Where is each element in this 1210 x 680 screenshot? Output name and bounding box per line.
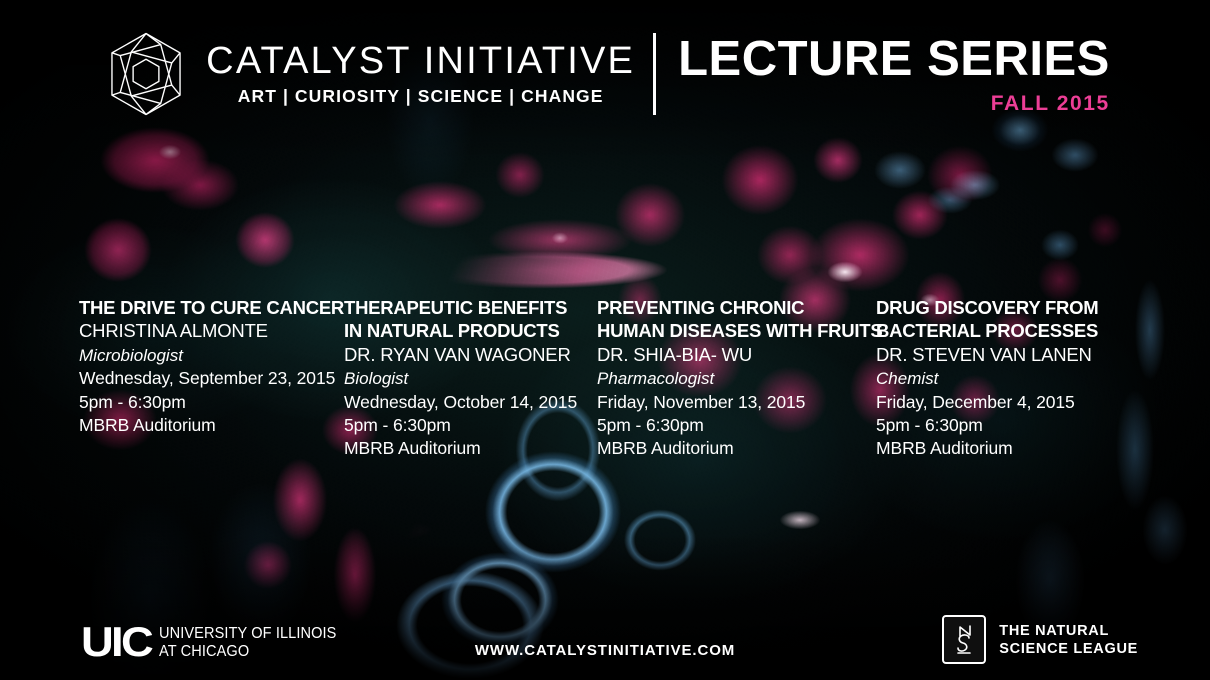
catalyst-polyhedron-logo-icon xyxy=(100,28,192,120)
lecture-role: Biologist xyxy=(344,367,597,390)
ns-monogram-icon xyxy=(942,615,986,664)
lecture-time: 5pm - 6:30pm xyxy=(597,414,876,437)
lecture-card-4: DRUG DISCOVERY FROM BACTERIAL PROCESSES … xyxy=(876,296,1139,461)
lecture-venue: MBRB Auditorium xyxy=(344,437,597,460)
lecture-title-line-1: DRUG DISCOVERY FROM xyxy=(876,296,1139,319)
brand-title: CATALYST INITIATIVE xyxy=(206,42,635,80)
lecture-card-3: PREVENTING CHRONIC HUMAN DISEASES WITH F… xyxy=(597,296,876,461)
lecture-venue: MBRB Auditorium xyxy=(876,437,1139,460)
series-subtitle: FALL 2015 xyxy=(678,93,1110,114)
lecture-venue: MBRB Auditorium xyxy=(597,437,876,460)
catalyst-initiative-brand: CATALYST INITIATIVE ART | CURIOSITY | SC… xyxy=(100,28,635,120)
nsl-line-1: THE NATURAL xyxy=(999,622,1138,640)
lecture-speaker: DR. SHIA-BIA- WU xyxy=(597,343,876,366)
lecture-date: Wednesday, October 14, 2015 xyxy=(344,391,597,414)
nsl-line-2: SCIENCE LEAGUE xyxy=(999,640,1138,658)
brand-tagline: ART | CURIOSITY | SCIENCE | CHANGE xyxy=(206,88,635,106)
poster-canvas: CATALYST INITIATIVE ART | CURIOSITY | SC… xyxy=(0,0,1210,680)
lecture-title-line-1: THERAPEUTIC BENEFITS xyxy=(344,296,597,319)
poster-footer: UIC UNIVERSITY OF ILLINOIS AT CHICAGO WW… xyxy=(0,590,1210,680)
lecture-venue: MBRB Auditorium xyxy=(79,414,344,437)
lecture-role: Chemist xyxy=(876,367,1139,390)
lecture-date: Friday, November 13, 2015 xyxy=(597,391,876,414)
lecture-date: Wednesday, September 23, 2015 xyxy=(79,367,344,390)
lecture-time: 5pm - 6:30pm xyxy=(79,391,344,414)
lecture-role: Pharmacologist xyxy=(597,367,876,390)
uic-line-1: UNIVERSITY OF ILLINOIS xyxy=(159,625,336,643)
lecture-title-line-2: HUMAN DISEASES WITH FRUITS xyxy=(597,319,876,342)
lecture-title-line-1: PREVENTING CHRONIC xyxy=(597,296,876,319)
lecture-date: Friday, December 4, 2015 xyxy=(876,391,1139,414)
header-divider xyxy=(653,33,656,115)
lecture-speaker: CHRISTINA ALMONTE xyxy=(79,319,344,342)
lecture-card-1: THE DRIVE TO CURE CANCER CHRISTINA ALMON… xyxy=(79,296,344,461)
natural-science-league-logo: THE NATURAL SCIENCE LEAGUE xyxy=(942,615,1138,664)
brand-wordmark: CATALYST INITIATIVE ART | CURIOSITY | SC… xyxy=(206,42,635,106)
lecture-time: 5pm - 6:30pm xyxy=(344,414,597,437)
lecture-role: Microbiologist xyxy=(79,344,344,367)
lecture-list: THE DRIVE TO CURE CANCER CHRISTINA ALMON… xyxy=(79,296,1139,461)
nsl-wordmark: THE NATURAL SCIENCE LEAGUE xyxy=(999,622,1138,658)
poster-header: CATALYST INITIATIVE ART | CURIOSITY | SC… xyxy=(0,28,1210,120)
lecture-card-2: THERAPEUTIC BENEFITS IN NATURAL PRODUCTS… xyxy=(344,296,597,461)
lecture-time: 5pm - 6:30pm xyxy=(876,414,1139,437)
series-title: LECTURE SERIES xyxy=(678,35,1110,84)
lecture-title-line-1: THE DRIVE TO CURE CANCER xyxy=(79,296,344,319)
lecture-title-line-2: BACTERIAL PROCESSES xyxy=(876,319,1139,342)
lecture-speaker: DR. STEVEN VAN LANEN xyxy=(876,343,1139,366)
lecture-speaker: DR. RYAN VAN WAGONER xyxy=(344,343,597,366)
lecture-title-line-2: IN NATURAL PRODUCTS xyxy=(344,319,597,342)
lecture-series-heading: LECTURE SERIES FALL 2015 xyxy=(678,35,1110,114)
